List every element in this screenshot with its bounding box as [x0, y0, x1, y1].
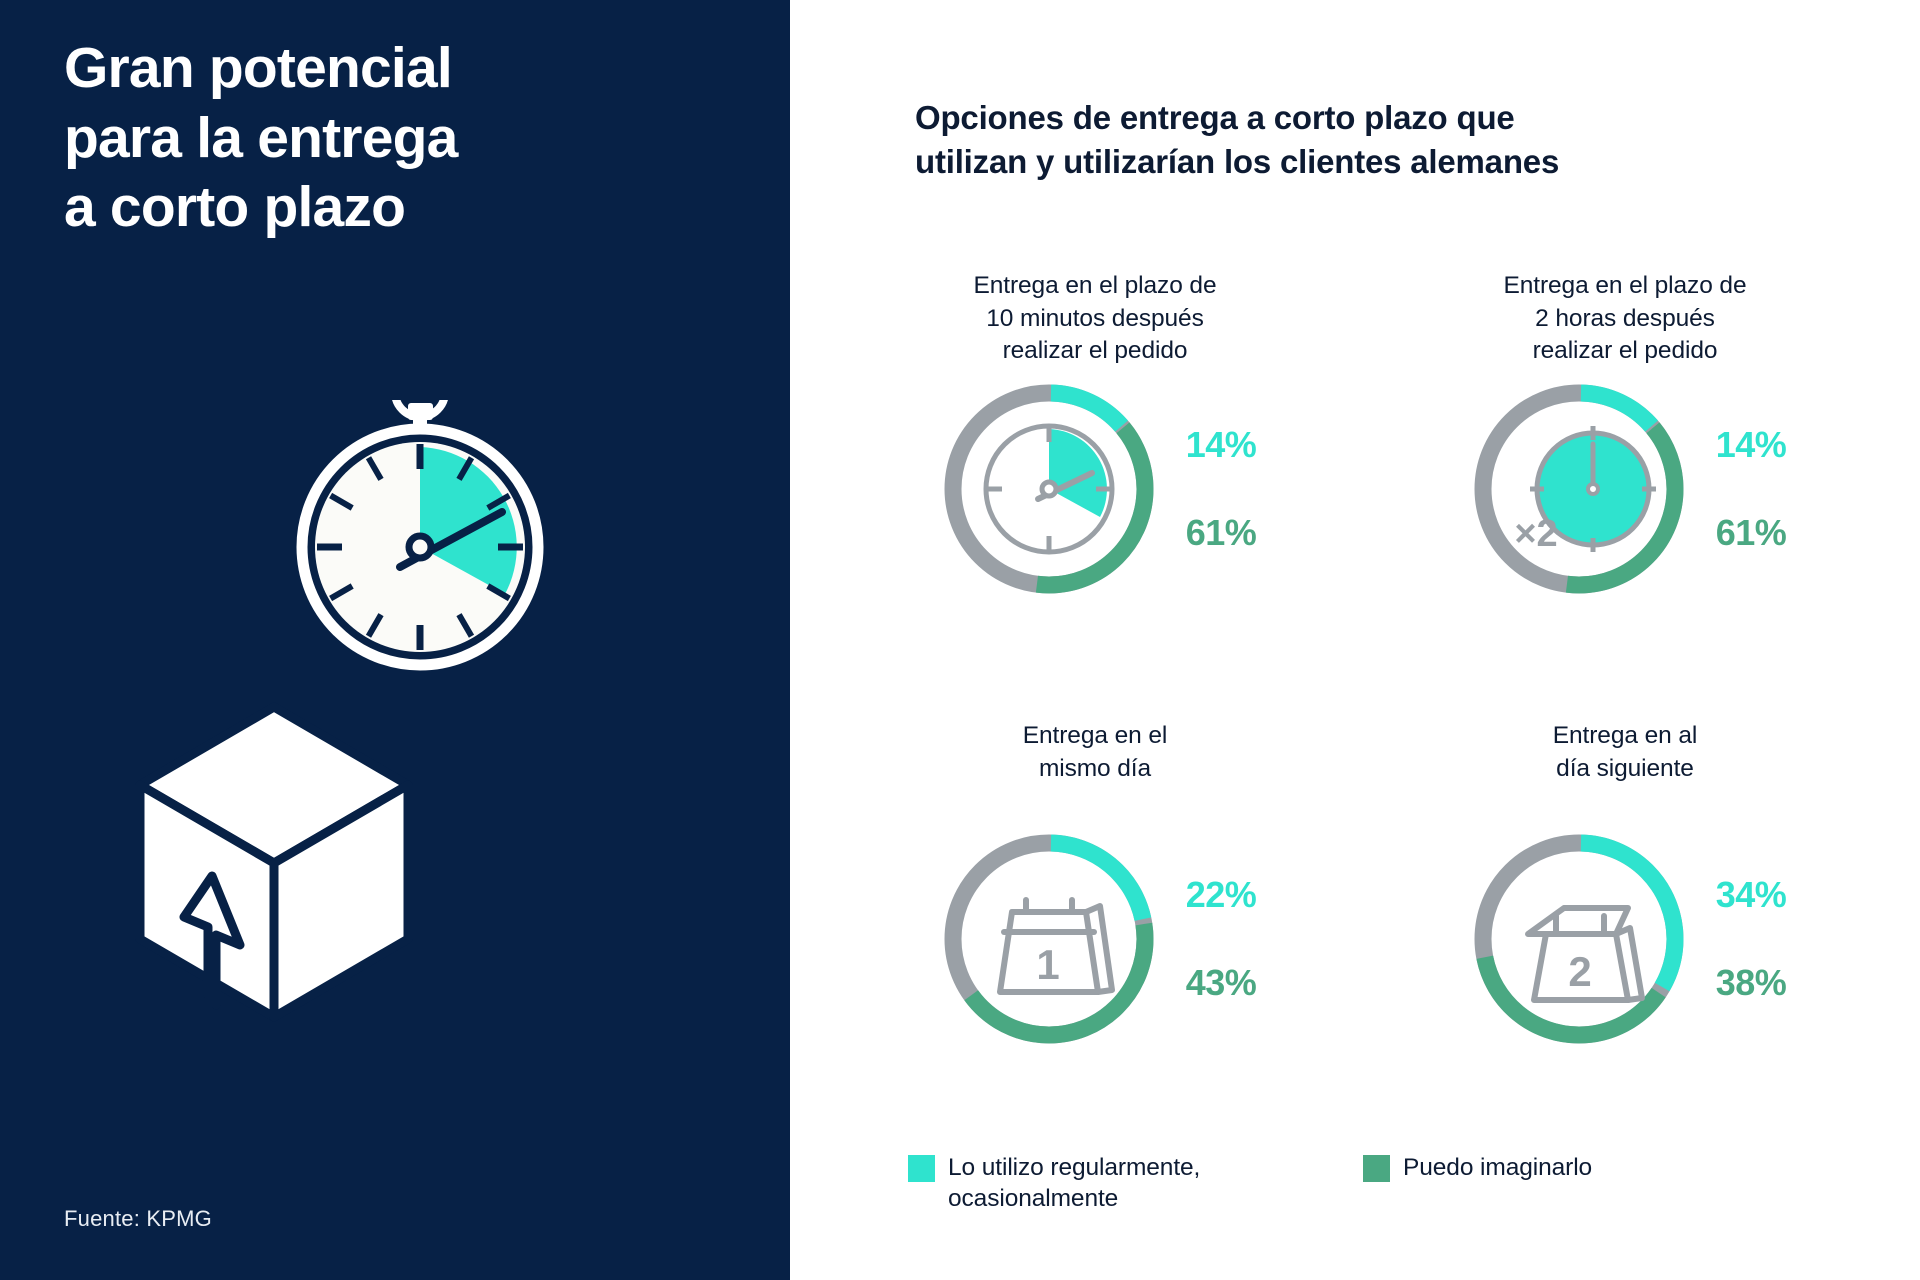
percent-labels: 14% 61%	[1716, 389, 1787, 589]
chart-label: Entrega en el plazo de 10 minutos despué…	[974, 270, 1217, 370]
percent-labels: 14% 61%	[1186, 389, 1257, 589]
percent-green: 43%	[1186, 965, 1257, 1001]
clock-icon	[986, 426, 1112, 552]
right-panel: Opciones de entrega a corto plazo que ut…	[790, 0, 1920, 1280]
donut-charts-grid: Entrega en el plazo de 10 minutos despué…	[830, 270, 1890, 1170]
page-title: Gran potencial para la entrega a corto p…	[64, 34, 724, 243]
percent-labels: 34% 38%	[1716, 839, 1787, 1039]
donut-chart: ×2	[1464, 374, 1694, 604]
chart-cell-2-horas: Entrega en el plazo de 2 horas después r…	[1360, 270, 1890, 720]
percent-labels: 22% 43%	[1186, 839, 1257, 1039]
percent-cyan: 34%	[1716, 877, 1787, 913]
left-illustration	[0, 400, 790, 1140]
source-note: Fuente: KPMG	[64, 1206, 212, 1232]
legend-item-imaginable: Puedo imaginarlo	[1363, 1152, 1592, 1214]
percent-green: 61%	[1716, 515, 1787, 551]
left-panel: Gran potencial para la entrega a corto p…	[0, 0, 790, 1280]
chart-label: Entrega en el plazo de 2 horas después r…	[1504, 270, 1747, 370]
clock-multiplier-badge: ×2	[1514, 513, 1557, 555]
percent-green: 61%	[1186, 515, 1257, 551]
chart-section-title: Opciones de entrega a corto plazo que ut…	[915, 96, 1795, 184]
percent-cyan: 22%	[1186, 877, 1257, 913]
chart-label: Entrega en el mismo día	[1023, 720, 1167, 820]
legend-item-regular: Lo utilizo regularmente, ocasionalmente	[908, 1152, 1363, 1214]
percent-cyan: 14%	[1186, 427, 1257, 463]
calendar-day-number: 1	[1036, 941, 1059, 988]
chart-body: 1 22% 43%	[934, 824, 1257, 1054]
legend-label: Puedo imaginarlo	[1403, 1152, 1592, 1183]
shipping-box-illustration	[140, 707, 408, 1017]
legend-swatch-cyan	[908, 1155, 935, 1182]
chart-cell-mismo-dia: Entrega en el mismo día	[830, 720, 1360, 1170]
chart-body: ×2 14% 61%	[1464, 374, 1787, 604]
percent-cyan: 14%	[1716, 427, 1787, 463]
chart-body: 14% 61%	[934, 374, 1257, 604]
donut-chart: 1	[934, 824, 1164, 1054]
percent-green: 38%	[1716, 965, 1787, 1001]
chart-legend: Lo utilizo regularmente, ocasionalmente …	[908, 1152, 1808, 1214]
donut-chart	[934, 374, 1164, 604]
calendar-day-number: 2	[1568, 948, 1591, 995]
legend-label: Lo utilizo regularmente, ocasionalmente	[948, 1152, 1200, 1214]
infographic-page: Gran potencial para la entrega a corto p…	[0, 0, 1920, 1280]
legend-swatch-green	[1363, 1155, 1390, 1182]
chart-label: Entrega en al día siguiente	[1553, 720, 1697, 820]
chart-cell-10-minutos: Entrega en el plazo de 10 minutos despué…	[830, 270, 1360, 720]
donut-chart: 2	[1464, 824, 1694, 1054]
stopwatch-illustration	[302, 400, 538, 665]
chart-body: 2 34% 38%	[1464, 824, 1787, 1054]
chart-cell-dia-siguiente: Entrega en al día siguiente	[1360, 720, 1890, 1170]
